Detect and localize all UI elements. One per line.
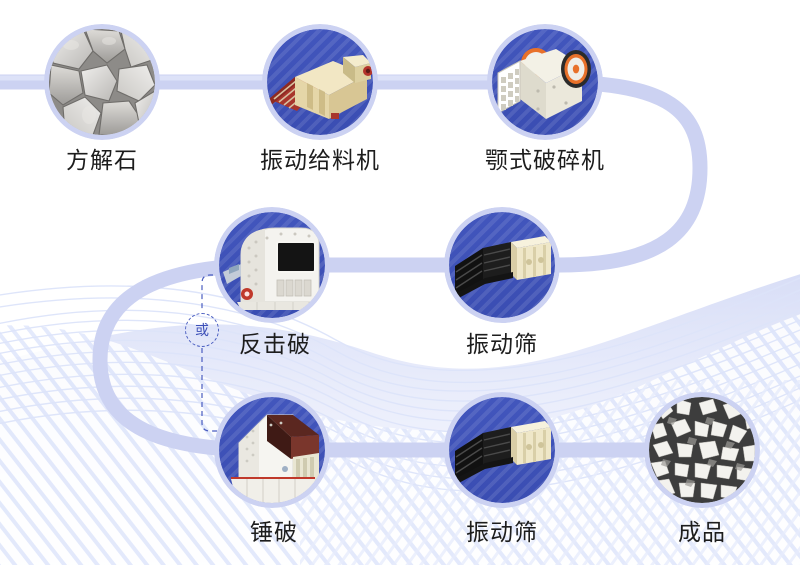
finished-product-image <box>649 397 755 503</box>
flow-diagram: 或 <box>0 0 800 565</box>
hammer-crusher-icon <box>219 397 325 503</box>
node-vibrating-screen-mid[interactable] <box>444 207 560 323</box>
or-label: 或 <box>195 320 209 340</box>
node-hammer-crusher[interactable] <box>214 392 330 508</box>
vibrating-feeder-image <box>267 29 373 135</box>
node-vibrating-feeder[interactable] <box>262 24 378 140</box>
node-jaw-crusher[interactable] <box>487 24 603 140</box>
impact-crusher-icon <box>219 212 325 318</box>
gravel-photo-icon <box>649 397 755 503</box>
caption-jaw-crusher: 颚式破碎机 <box>445 150 645 173</box>
vibrating-screen-icon <box>449 397 555 503</box>
jaw-crusher-icon <box>492 29 598 135</box>
vibrating-feeder-icon <box>267 29 373 135</box>
impact-crusher-image <box>219 212 325 318</box>
node-impact-crusher[interactable] <box>214 207 330 323</box>
vibrating-screen-icon <box>449 212 555 318</box>
caption-hammer-crusher: 锤破 <box>174 522 374 545</box>
node-finished-product[interactable] <box>644 392 760 508</box>
node-calcite[interactable] <box>44 24 160 140</box>
vibrating-screen-mid-image <box>449 212 555 318</box>
caption-calcite: 方解石 <box>2 150 202 173</box>
node-vibrating-screen-bottom[interactable] <box>444 392 560 508</box>
vibrating-screen-bottom-image <box>449 397 555 503</box>
caption-finished-product: 成品 <box>602 522 800 545</box>
rock-photo-icon <box>49 29 155 135</box>
caption-vibrating-screen-mid: 振动筛 <box>402 334 602 357</box>
jaw-crusher-image <box>492 29 598 135</box>
calcite-image <box>49 29 155 135</box>
hammer-crusher-image <box>219 397 325 503</box>
or-badge: 或 <box>185 313 219 347</box>
caption-vibrating-screen-bottom: 振动筛 <box>402 522 602 545</box>
caption-vibrating-feeder: 振动给料机 <box>220 150 420 173</box>
